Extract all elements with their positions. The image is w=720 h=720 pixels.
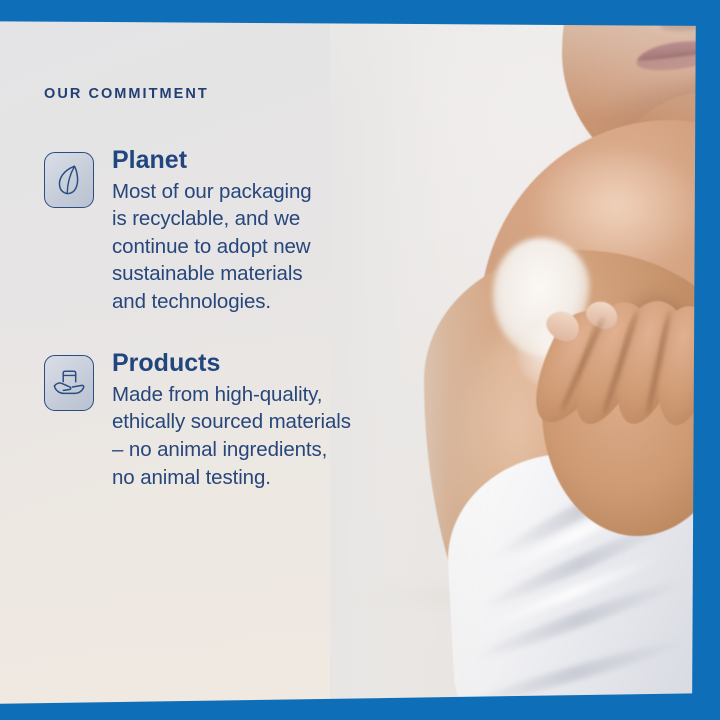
body-line: continue to adopt new: [112, 233, 374, 261]
commitment-text-products: Products Made from high-quality, ethical…: [112, 349, 374, 491]
body-line: Most of our packaging: [112, 178, 374, 206]
body-line: is recyclable, and we: [112, 205, 374, 233]
commitment-block-products: Products Made from high-quality, ethical…: [44, 349, 374, 491]
commitment-text-planet: Planet Most of our packaging is recyclab…: [112, 146, 374, 315]
commitment-content: OUR COMMITMENT Planet Most of our packag…: [44, 86, 374, 525]
body-line: – no animal ingredients,: [112, 436, 374, 464]
section-eyebrow: OUR COMMITMENT: [44, 86, 374, 102]
commitment-block-planet: Planet Most of our packaging is recyclab…: [44, 146, 374, 315]
skincare-application-photo: [330, 0, 720, 720]
body-line: no animal testing.: [112, 464, 374, 492]
block-body-products: Made from high-quality, ethically source…: [112, 381, 374, 491]
block-title-planet: Planet: [112, 146, 374, 176]
infographic-canvas: OUR COMMITMENT Planet Most of our packag…: [0, 0, 720, 720]
block-title-products: Products: [112, 349, 374, 379]
body-line: and technologies.: [112, 288, 374, 316]
leaf-icon: [44, 152, 94, 208]
body-line: sustainable materials: [112, 260, 374, 288]
body-line: Made from high-quality,: [112, 381, 374, 409]
block-body-planet: Most of our packaging is recyclable, and…: [112, 178, 374, 316]
photo-inner: [330, 0, 720, 720]
frame-bar-right: [692, 0, 720, 720]
body-line: ethically sourced materials: [112, 408, 374, 436]
hand-holding-jar-icon: [44, 355, 94, 411]
